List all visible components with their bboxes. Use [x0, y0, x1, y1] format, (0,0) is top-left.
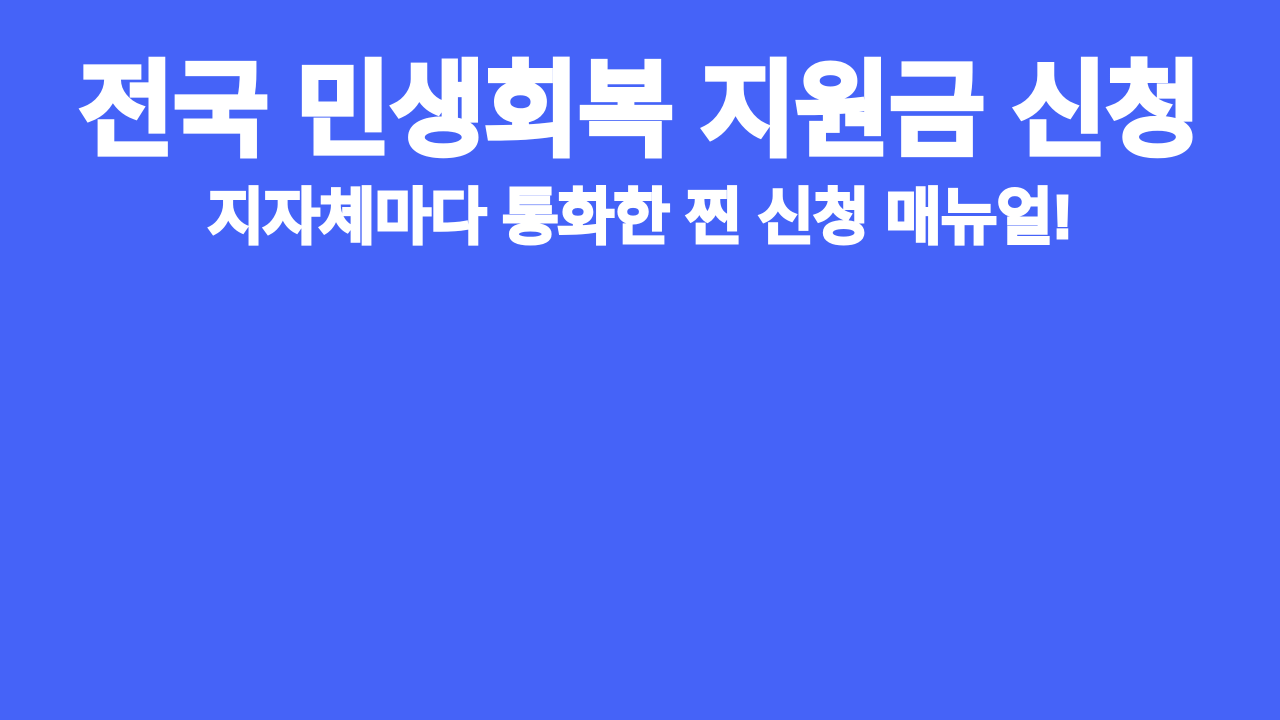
- subheadline-text: 지자체마다 통화한 찐 신청 매뉴얼!: [208, 185, 1072, 249]
- empty-background-area: [0, 330, 1280, 720]
- headline-title: 전국 민생회복 지원금 신청: [79, 58, 1200, 163]
- thumbnail-canvas: 전국 민생회복 지원금 신청 지자체마다 통화한 찐 신청 매뉴얼!: [0, 0, 1280, 720]
- text-stack: 전국 민생회복 지원금 신청 지자체마다 통화한 찐 신청 매뉴얼!: [0, 0, 1280, 249]
